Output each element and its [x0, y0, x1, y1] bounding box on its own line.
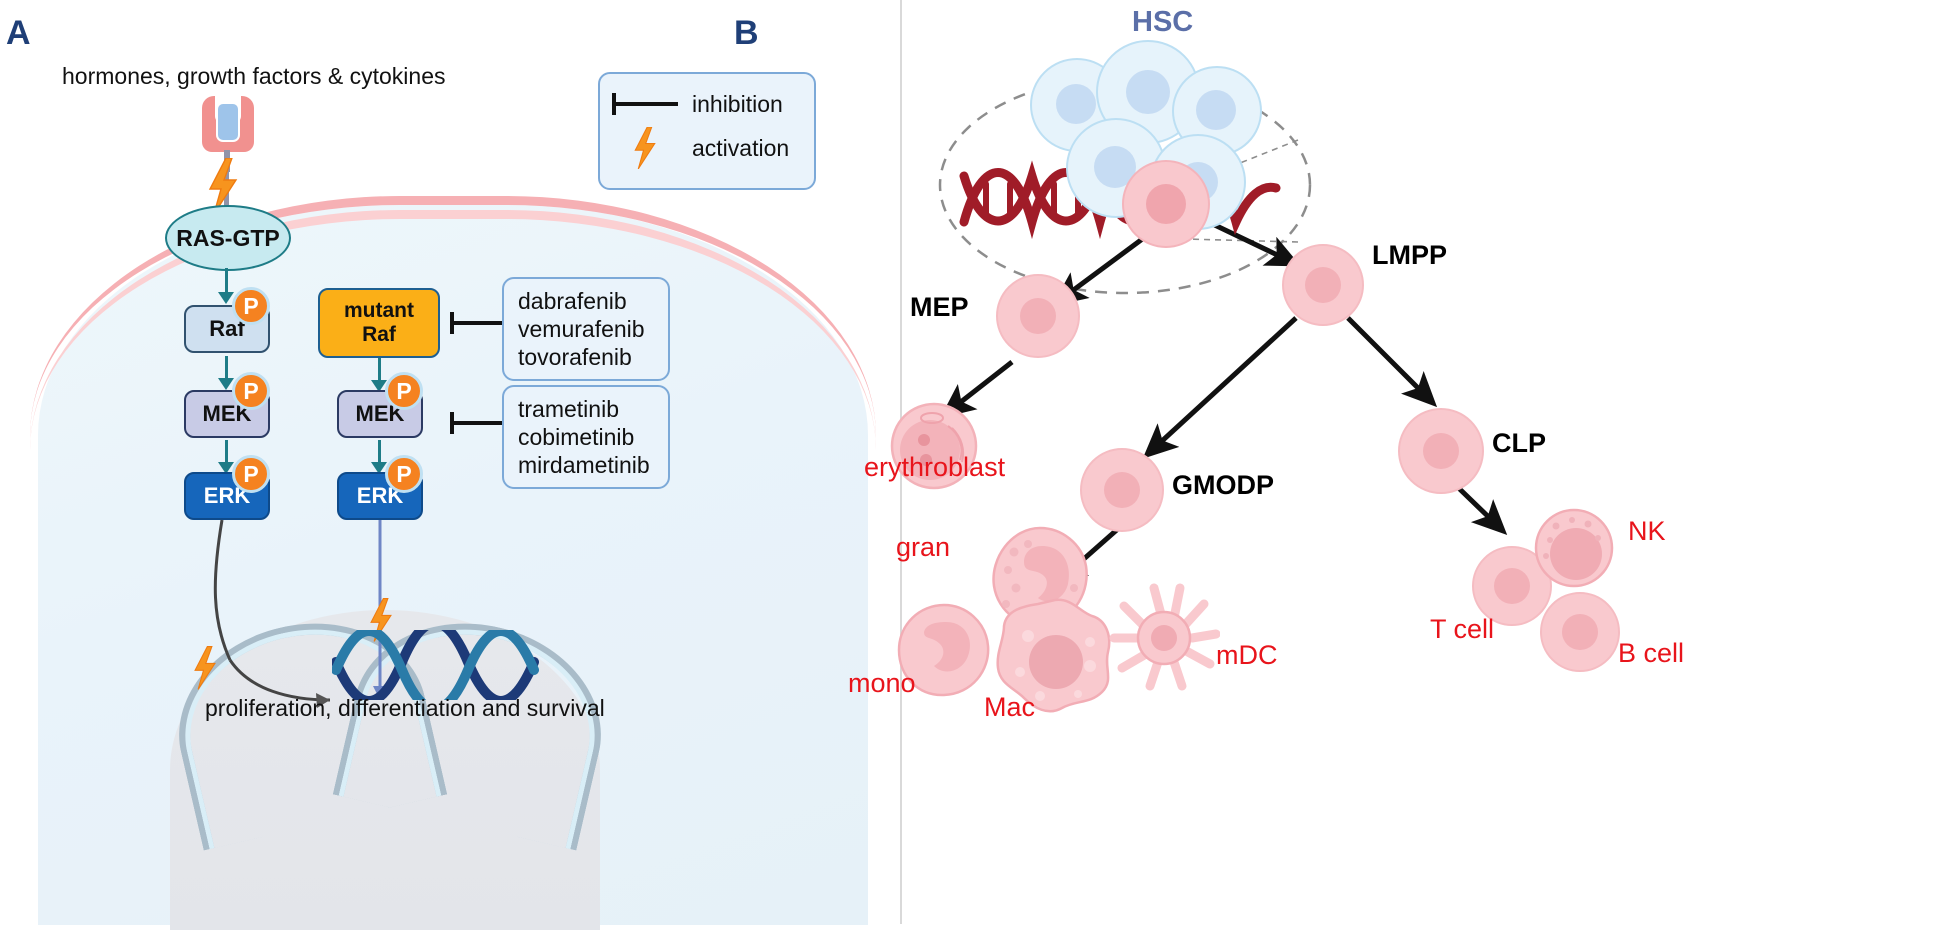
- label-mono: mono: [848, 668, 916, 699]
- drug-box-mek-inhibitors: trametinib cobimetinib mirdametinib: [502, 385, 670, 489]
- label-t-cell: T cell: [1430, 614, 1494, 645]
- lightning-bolt-icon: [612, 127, 678, 169]
- nucleus-outcome-caption: proliferation, differentiation and survi…: [205, 695, 605, 722]
- phospho-badge-mek-mutant: P: [385, 372, 423, 410]
- legend-item-inhibition: inhibition: [612, 83, 802, 125]
- cell-gmodp: [1080, 448, 1164, 532]
- hsc-mutant-cell: [1122, 160, 1210, 248]
- inhibition-bar-icon: [612, 93, 678, 115]
- phospho-badge-erk: P: [232, 455, 270, 493]
- node-ras-gtp: RAS-GTP: [165, 205, 291, 271]
- drug-dabrafenib: dabrafenib: [518, 287, 654, 315]
- cell-mdc: [1104, 578, 1220, 694]
- drug-cobimetinib: cobimetinib: [518, 423, 654, 451]
- phospho-badge-raf: P: [232, 287, 270, 325]
- label-b-cell: B cell: [1618, 638, 1684, 669]
- stimulus-label: hormones, growth factors & cytokines: [62, 63, 446, 90]
- cell-b: [1540, 592, 1620, 672]
- receptor-icon: [202, 96, 254, 156]
- inhibition-connector-raf: [450, 312, 510, 334]
- legend-item-activation: activation: [612, 125, 802, 171]
- cell-nk: [1532, 506, 1616, 590]
- label-nk: NK: [1628, 516, 1666, 547]
- drug-tovorafenib: tovorafenib: [518, 343, 654, 371]
- figure-root: A hormones, growth factors & cytokines i…: [0, 0, 1945, 924]
- cell-mep: [996, 274, 1080, 358]
- drug-vemurafenib: vemurafenib: [518, 315, 654, 343]
- mutant-raf-line1: mutant: [344, 299, 414, 323]
- legend-box: inhibition activation: [598, 72, 816, 190]
- node-mutant-raf: mutant Raf: [318, 288, 440, 358]
- label-lmpp: LMPP: [1372, 240, 1447, 271]
- cell-clp: [1398, 408, 1484, 494]
- legend-label-inhibition: inhibition: [692, 91, 783, 118]
- panel-a: A hormones, growth factors & cytokines i…: [0, 0, 900, 924]
- panel-b: B: [900, 0, 1945, 924]
- panel-b-letter: B: [734, 14, 759, 53]
- label-mac: Mac: [984, 692, 1035, 723]
- label-erythroblast: erythroblast: [864, 452, 1005, 483]
- drug-box-raf-inhibitors: dabrafenib vemurafenib tovorafenib: [502, 277, 670, 381]
- panel-a-letter: A: [6, 14, 31, 53]
- inhibition-connector-mek: [450, 412, 510, 434]
- drug-trametinib: trametinib: [518, 395, 654, 423]
- nuclear-dna-icon: [332, 630, 552, 700]
- label-gran: gran: [896, 532, 950, 563]
- label-clp: CLP: [1492, 428, 1546, 459]
- activation-bolt-nucleus-left-icon: [192, 646, 218, 695]
- label-mep: MEP: [910, 292, 969, 323]
- drug-mirdametinib: mirdametinib: [518, 451, 654, 479]
- hsc-label: HSC: [1132, 6, 1193, 39]
- label-gmodp: GMODP: [1172, 470, 1274, 501]
- cell-lmpp: [1282, 244, 1364, 326]
- legend-label-activation: activation: [692, 135, 789, 162]
- label-mdc: mDC: [1216, 640, 1278, 671]
- phospho-badge-mek: P: [232, 372, 270, 410]
- mutant-raf-line2: Raf: [362, 323, 396, 347]
- phospho-badge-erk-mutant: P: [385, 455, 423, 493]
